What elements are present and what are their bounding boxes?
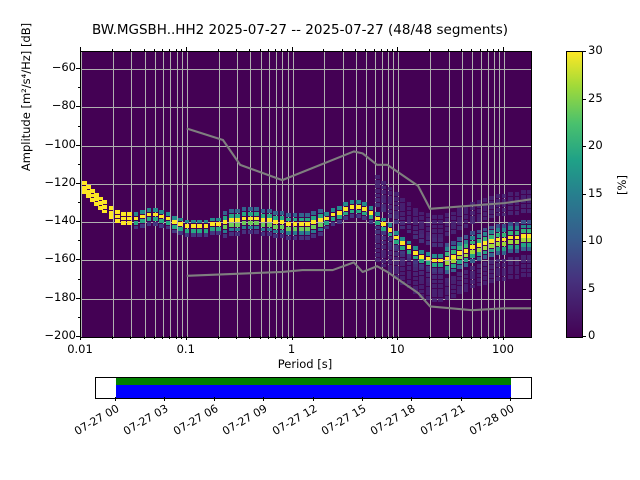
x-minor-tick bbox=[281, 49, 282, 52]
x-minor-tick bbox=[480, 336, 481, 339]
timeline-tick-mark bbox=[115, 397, 116, 401]
x-tick-label: 100 bbox=[473, 342, 533, 356]
x-minor-tick bbox=[374, 49, 375, 52]
y-tick-label: −140 bbox=[38, 213, 76, 227]
ppsd-plot-area[interactable] bbox=[80, 51, 532, 338]
x-minor-tick bbox=[487, 336, 488, 339]
x-minor-tick bbox=[381, 336, 382, 339]
x-tick-mark bbox=[503, 336, 504, 340]
x-minor-tick bbox=[218, 49, 219, 52]
colorbar-tick-mark bbox=[582, 146, 586, 147]
x-minor-tick bbox=[176, 49, 177, 52]
y-tick-mark bbox=[76, 145, 80, 146]
timeline-tick-mark bbox=[164, 397, 165, 401]
colorbar-tick-label: 30 bbox=[588, 43, 628, 57]
colorbar-tick-mark bbox=[582, 241, 586, 242]
x-minor-tick bbox=[448, 336, 449, 339]
colorbar-tick-mark bbox=[582, 194, 586, 195]
x-minor-tick bbox=[392, 49, 393, 52]
x-minor-tick bbox=[392, 336, 393, 339]
y-tick-label: −200 bbox=[38, 328, 76, 342]
y-tick-label: −80 bbox=[38, 98, 76, 112]
x-minor-tick bbox=[112, 336, 113, 339]
x-minor-tick bbox=[176, 336, 177, 339]
x-minor-tick bbox=[260, 49, 261, 52]
x-tick-label: 0.01 bbox=[50, 342, 110, 356]
x-minor-tick bbox=[387, 336, 388, 339]
x-minor-tick bbox=[323, 49, 324, 52]
x-minor-tick bbox=[498, 336, 499, 339]
timeline-tick-mark bbox=[461, 397, 462, 401]
x-minor-tick bbox=[169, 49, 170, 52]
x-top-tick bbox=[186, 47, 187, 51]
timeline-tick-mark bbox=[214, 397, 215, 401]
x-minor-tick bbox=[374, 336, 375, 339]
x-minor-tick bbox=[429, 336, 430, 339]
x-minor-tick bbox=[169, 336, 170, 339]
y-minor-tick bbox=[78, 317, 81, 318]
y-tick-label: −120 bbox=[38, 175, 76, 189]
x-minor-tick bbox=[249, 49, 250, 52]
x-minor-tick bbox=[498, 49, 499, 52]
x-tick-mark bbox=[397, 336, 398, 340]
x-minor-tick bbox=[323, 336, 324, 339]
y-minor-tick bbox=[78, 164, 81, 165]
coverage-timeline[interactable] bbox=[95, 377, 532, 399]
page-title: BW.MGSBH..HH2 2025-07-27 -- 2025-07-27 (… bbox=[0, 22, 600, 38]
y-minor-tick bbox=[78, 126, 81, 127]
timeline-tick-mark bbox=[411, 397, 412, 401]
y-tick-label: −60 bbox=[38, 60, 76, 74]
x-minor-tick bbox=[181, 49, 182, 52]
colorbar-tick-mark bbox=[582, 336, 586, 337]
x-minor-tick bbox=[275, 49, 276, 52]
x-axis-label: Period [s] bbox=[80, 357, 530, 371]
x-minor-tick bbox=[448, 49, 449, 52]
y-tick-mark bbox=[76, 183, 80, 184]
colorbar-tick-mark bbox=[582, 99, 586, 100]
x-minor-tick bbox=[268, 49, 269, 52]
x-minor-tick bbox=[461, 49, 462, 52]
x-minor-tick bbox=[365, 336, 366, 339]
x-minor-tick bbox=[162, 49, 163, 52]
x-minor-tick bbox=[275, 336, 276, 339]
x-minor-tick bbox=[154, 49, 155, 52]
noise-model-overlay bbox=[81, 52, 531, 337]
x-minor-tick bbox=[260, 336, 261, 339]
x-minor-tick bbox=[130, 49, 131, 52]
x-minor-tick bbox=[154, 336, 155, 339]
y-tick-mark bbox=[76, 68, 80, 69]
x-minor-tick bbox=[461, 336, 462, 339]
x-tick-label: 1 bbox=[262, 342, 322, 356]
x-minor-tick bbox=[236, 336, 237, 339]
x-top-tick bbox=[503, 47, 504, 51]
x-minor-tick bbox=[429, 49, 430, 52]
x-tick-mark bbox=[186, 336, 187, 340]
x-minor-tick bbox=[218, 336, 219, 339]
timeline-tick-mark bbox=[263, 397, 264, 401]
x-minor-tick bbox=[268, 336, 269, 339]
timeline-tick-mark bbox=[510, 397, 511, 401]
blue-coverage-bar bbox=[116, 385, 511, 398]
x-minor-tick bbox=[144, 336, 145, 339]
x-minor-tick bbox=[287, 336, 288, 339]
x-minor-tick bbox=[287, 49, 288, 52]
x-minor-tick bbox=[342, 336, 343, 339]
x-minor-tick bbox=[365, 49, 366, 52]
x-minor-tick bbox=[493, 336, 494, 339]
x-minor-tick bbox=[249, 336, 250, 339]
y-tick-label: −180 bbox=[38, 290, 76, 304]
colorbar-tick-mark bbox=[582, 51, 586, 52]
colorbar-tick-label: 20 bbox=[588, 138, 628, 152]
x-minor-tick bbox=[130, 336, 131, 339]
x-minor-tick bbox=[355, 336, 356, 339]
x-minor-tick bbox=[387, 49, 388, 52]
x-top-tick bbox=[397, 47, 398, 51]
x-tick-mark bbox=[292, 336, 293, 340]
y-axis-label: Amplitude [m²/s⁴/Hz] [dB] bbox=[19, 0, 33, 197]
y-tick-mark bbox=[76, 259, 80, 260]
y-tick-mark bbox=[76, 221, 80, 222]
x-top-tick bbox=[292, 47, 293, 51]
x-minor-tick bbox=[112, 49, 113, 52]
x-minor-tick bbox=[162, 336, 163, 339]
x-minor-tick bbox=[493, 49, 494, 52]
colorbar-tick-label: 0 bbox=[588, 328, 628, 342]
y-minor-tick bbox=[78, 87, 81, 88]
timeline-tick-mark bbox=[313, 397, 314, 401]
x-minor-tick bbox=[236, 49, 237, 52]
green-coverage-bar bbox=[116, 378, 511, 385]
x-minor-tick bbox=[181, 336, 182, 339]
timeline-tick-mark bbox=[362, 397, 363, 401]
x-minor-tick bbox=[355, 49, 356, 52]
colorbar-tick-label: 25 bbox=[588, 91, 628, 105]
ppsd-figure: BW.MGSBH..HH2 2025-07-27 -- 2025-07-27 (… bbox=[0, 0, 640, 480]
nlnm-low-noise-model bbox=[187, 262, 531, 310]
x-tick-mark bbox=[80, 336, 81, 340]
colorbar-tick-mark bbox=[582, 289, 586, 290]
colorbar-tick-label: 10 bbox=[588, 233, 628, 247]
y-minor-tick bbox=[78, 279, 81, 280]
nhnm-high-noise-model bbox=[187, 129, 531, 209]
x-tick-label: 10 bbox=[367, 342, 427, 356]
y-minor-tick bbox=[78, 202, 81, 203]
colorbar-tick-label: 5 bbox=[588, 281, 628, 295]
x-minor-tick bbox=[381, 49, 382, 52]
x-minor-tick bbox=[471, 49, 472, 52]
colorbar[interactable] bbox=[566, 51, 583, 338]
colorbar-label: [%] bbox=[615, 155, 629, 215]
y-tick-label: −100 bbox=[38, 137, 76, 151]
x-tick-label: 0.1 bbox=[156, 342, 216, 356]
x-minor-tick bbox=[281, 336, 282, 339]
x-minor-tick bbox=[480, 49, 481, 52]
y-minor-tick bbox=[78, 240, 81, 241]
y-tick-label: −160 bbox=[38, 251, 76, 265]
x-minor-tick bbox=[471, 336, 472, 339]
x-minor-tick bbox=[487, 49, 488, 52]
y-tick-mark bbox=[76, 106, 80, 107]
x-minor-tick bbox=[342, 49, 343, 52]
x-minor-tick bbox=[144, 49, 145, 52]
x-top-tick bbox=[80, 47, 81, 51]
y-tick-mark bbox=[76, 298, 80, 299]
